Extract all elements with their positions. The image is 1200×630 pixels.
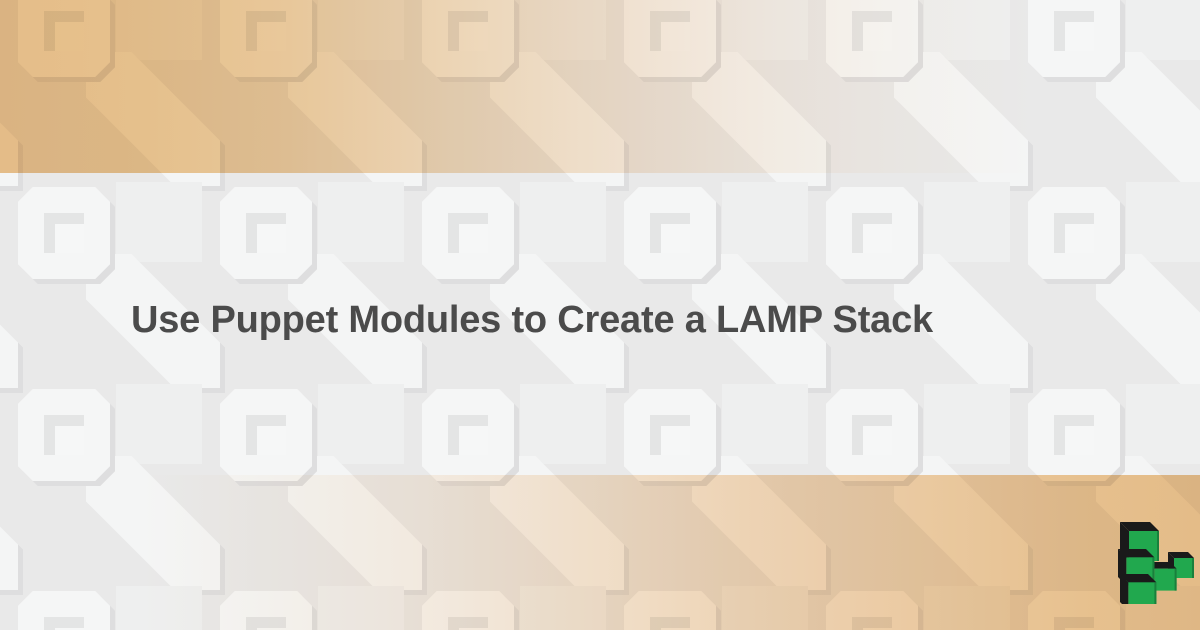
page-title: Use Puppet Modules to Create a LAMP Stac… [131, 298, 1081, 342]
pattern-inner-square-highlight [1065, 22, 1094, 51]
pattern-tile [202, 182, 404, 384]
pattern-inner-square-highlight [55, 426, 84, 455]
pattern-riser [318, 0, 404, 60]
pattern-tile [808, 182, 1010, 384]
pattern-riser [116, 182, 202, 262]
pattern-tile [404, 182, 606, 384]
pattern-inner-square-highlight [661, 224, 690, 253]
pattern-riser [1126, 182, 1200, 262]
pattern-inner-square-highlight [459, 426, 488, 455]
pattern-riser [722, 182, 808, 262]
pattern-riser [722, 384, 808, 464]
pattern-tile [404, 384, 606, 586]
pattern-tile [606, 586, 808, 630]
pattern-inner-square-highlight [459, 224, 488, 253]
pattern-riser [520, 384, 606, 464]
pattern-inner-square-highlight [257, 224, 286, 253]
puppet-logo-icon [1118, 522, 1194, 604]
pattern-riser [722, 586, 808, 630]
pattern-inner-square-highlight [661, 426, 690, 455]
pattern-riser [1126, 0, 1200, 60]
pattern-tile [0, 182, 202, 384]
pattern-riser [116, 586, 202, 630]
pattern-inner-square-highlight [863, 22, 892, 51]
pattern-tile [202, 586, 404, 630]
pattern-tile [0, 384, 202, 586]
pattern-tile [808, 384, 1010, 586]
pattern-riser [318, 586, 404, 630]
pattern-tile [202, 0, 404, 182]
pattern-riser [1126, 384, 1200, 464]
pattern-tile [606, 384, 808, 586]
pattern-riser [924, 0, 1010, 60]
pattern-tile [0, 586, 202, 630]
pattern-inner-square-highlight [1065, 426, 1094, 455]
pattern-inner-square-highlight [863, 426, 892, 455]
pattern-riser [924, 182, 1010, 262]
pattern-riser [722, 0, 808, 60]
logo-cube [1120, 574, 1156, 604]
pattern-riser [520, 586, 606, 630]
pattern-inner-square-highlight [1065, 224, 1094, 253]
pattern-riser [116, 384, 202, 464]
pattern-tile [808, 586, 1010, 630]
pattern-tile [0, 0, 202, 182]
pattern-tile [606, 182, 808, 384]
pattern-tile [808, 0, 1010, 182]
banner: Use Puppet Modules to Create a LAMP Stac… [0, 0, 1200, 630]
pattern-inner-square-highlight [661, 22, 690, 51]
pattern-inner-square-highlight [55, 22, 84, 51]
pattern-tile [404, 586, 606, 630]
pattern-riser [318, 182, 404, 262]
pattern-riser [520, 182, 606, 262]
pattern-tile [404, 0, 606, 182]
pattern-inner-square-highlight [257, 426, 286, 455]
pattern-inner-square-highlight [459, 22, 488, 51]
pattern-riser [924, 384, 1010, 464]
pattern-riser [116, 0, 202, 60]
pattern-inner-square-highlight [55, 224, 84, 253]
pattern-riser [318, 384, 404, 464]
pattern-riser [520, 0, 606, 60]
pattern-inner-square-highlight [257, 22, 286, 51]
pattern-tile [606, 0, 808, 182]
puppet-logo [1118, 522, 1194, 604]
pattern-inner-square-highlight [863, 224, 892, 253]
pattern-riser [924, 586, 1010, 630]
pattern-tile [1010, 182, 1200, 384]
pattern-tile [1010, 0, 1200, 182]
pattern-tile [202, 384, 404, 586]
